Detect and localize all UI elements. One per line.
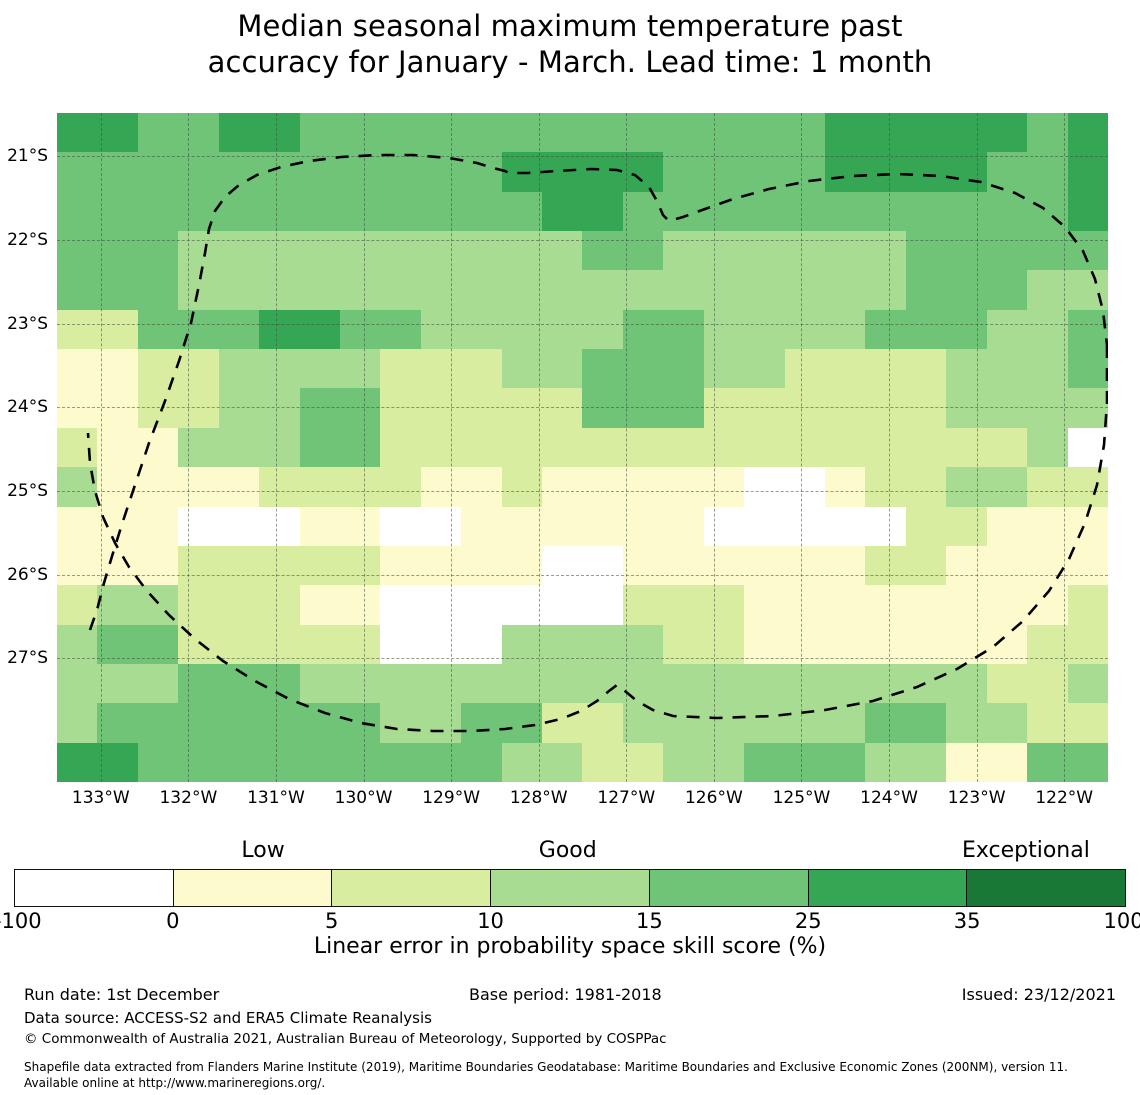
y-axis-tick: 27°S	[0, 648, 48, 668]
heatmap-cell	[259, 231, 299, 270]
heatmap-cell	[582, 467, 622, 506]
heatmap-cell	[1027, 113, 1067, 152]
heatmap-cell	[542, 428, 582, 467]
heatmap-cell	[704, 152, 744, 191]
heatmap-cell	[987, 388, 1027, 427]
heatmap-cell	[987, 743, 1027, 782]
heatmap-cell	[946, 664, 986, 703]
heatmap-cell	[825, 349, 865, 388]
colorbar-segment[interactable]	[491, 870, 650, 906]
heatmap-cell	[623, 703, 663, 742]
heatmap-cell	[259, 192, 299, 231]
heatmap-cell	[623, 743, 663, 782]
colorbar-legend[interactable]: LowGoodExceptional -1000510152535100 Lin…	[14, 838, 1126, 950]
heatmap-cell	[582, 113, 622, 152]
heatmap-cell	[502, 467, 542, 506]
x-axis-tick: 122°W	[1035, 788, 1093, 808]
heatmap-cell	[542, 467, 582, 506]
heatmap-cell	[946, 192, 986, 231]
heatmap-cell	[865, 428, 905, 467]
heatmap-cell	[987, 585, 1027, 624]
heatmap-cell	[704, 349, 744, 388]
heatmap-cell	[340, 703, 380, 742]
x-axis-tick: 123°W	[948, 788, 1006, 808]
heatmap-cell	[865, 467, 905, 506]
heatmap-cell	[178, 349, 218, 388]
colorbar-segment[interactable]	[174, 870, 333, 906]
heatmap-cell	[300, 703, 340, 742]
heatmap-cell	[1027, 192, 1067, 231]
heatmap-cell	[300, 231, 340, 270]
heatmap-cell	[340, 270, 380, 309]
heatmap-cell	[219, 664, 259, 703]
heatmap-cell	[987, 113, 1027, 152]
heatmap-cell	[663, 507, 703, 546]
data-source-label: Data source: ACCESS-S2 and ERA5 Climate …	[24, 1009, 432, 1027]
colorbar-axis-title: Linear error in probability space skill …	[14, 934, 1126, 959]
heatmap-cell	[219, 388, 259, 427]
heatmap-cell	[461, 625, 501, 664]
heatmap-cell	[825, 428, 865, 467]
heatmap-cell	[582, 349, 622, 388]
heatmap-cell	[704, 467, 744, 506]
heatmap-cell	[340, 428, 380, 467]
heatmap-cell	[987, 428, 1027, 467]
heatmap-cell	[461, 310, 501, 349]
heatmap-cell	[300, 428, 340, 467]
heatmap-cell	[865, 152, 905, 191]
heatmap-cell	[340, 664, 380, 703]
heatmap-cell	[502, 703, 542, 742]
heatmap-cell	[461, 152, 501, 191]
heatmap-cell	[744, 113, 784, 152]
heatmap-cell	[1068, 231, 1108, 270]
heatmap-cell	[57, 113, 97, 152]
heatmap-cell	[785, 585, 825, 624]
heatmap-cell	[542, 546, 582, 585]
heatmap-cell	[57, 310, 97, 349]
heatmap-cell	[300, 388, 340, 427]
heatmap-cell	[340, 192, 380, 231]
heatmap-cell	[57, 507, 97, 546]
heatmap-cell	[300, 192, 340, 231]
heatmap-cell	[865, 349, 905, 388]
heatmap-cell	[421, 113, 461, 152]
heatmap-cell	[97, 388, 137, 427]
heatmap-cell-grid	[57, 113, 1108, 782]
heatmap-cell	[865, 388, 905, 427]
heatmap-cell	[744, 546, 784, 585]
heatmap-cell	[421, 743, 461, 782]
heatmap-cell	[502, 231, 542, 270]
heatmap-cell	[1027, 743, 1067, 782]
heatmap-cell	[623, 467, 663, 506]
heatmap-cell	[1068, 270, 1108, 309]
colorbar-segment[interactable]	[650, 870, 809, 906]
heatmap-cell	[57, 467, 97, 506]
heatmap-cell	[1027, 349, 1067, 388]
heatmap-cell	[57, 428, 97, 467]
heatmap-cell	[582, 270, 622, 309]
colorbar-category-label: Exceptional	[962, 838, 1090, 863]
heatmap-cell	[300, 152, 340, 191]
heatmap-cell	[865, 310, 905, 349]
heatmap-cell	[1027, 270, 1067, 309]
heatmap-cell	[987, 310, 1027, 349]
heatmap-cell	[542, 270, 582, 309]
x-axis-tick: 128°W	[510, 788, 568, 808]
heatmap-cell	[623, 625, 663, 664]
heatmap-cell	[542, 625, 582, 664]
heatmap-cell	[785, 625, 825, 664]
heatmap-cell	[461, 507, 501, 546]
x-axis-tick: 127°W	[597, 788, 655, 808]
x-axis-tick: 125°W	[773, 788, 831, 808]
heatmap-cell	[57, 625, 97, 664]
heatmap-cell	[461, 270, 501, 309]
heatmap-cell	[57, 231, 97, 270]
heatmap-cell	[623, 113, 663, 152]
heatmap-cell	[987, 152, 1027, 191]
heatmap-cell	[946, 546, 986, 585]
heatmap-cell	[623, 546, 663, 585]
heatmap-cell	[1068, 113, 1108, 152]
heatmap-cell	[259, 664, 299, 703]
heatmap-cell	[1027, 231, 1067, 270]
heatmap-cell	[825, 310, 865, 349]
heatmap-cell	[865, 664, 905, 703]
heatmap-cell	[380, 231, 420, 270]
heatmap-cell	[744, 152, 784, 191]
heatmap-cell	[1027, 703, 1067, 742]
heatmap-cell	[1068, 310, 1108, 349]
heatmap-cell	[785, 270, 825, 309]
heatmap-cell	[663, 467, 703, 506]
heatmap-cell	[340, 546, 380, 585]
heatmap-cell	[704, 192, 744, 231]
y-axis-tick: 25°S	[0, 481, 48, 501]
heatmap-cell	[946, 113, 986, 152]
heatmap-cell	[663, 310, 703, 349]
heatmap-cell	[219, 349, 259, 388]
heatmap-cell	[300, 113, 340, 152]
heatmap-cell	[582, 310, 622, 349]
heatmap-cell	[987, 467, 1027, 506]
heatmap-cell	[582, 546, 622, 585]
colorbar-segment[interactable]	[15, 870, 174, 906]
heatmap-cell	[97, 585, 137, 624]
heatmap-cell	[97, 743, 137, 782]
heatmap-cell	[421, 585, 461, 624]
heatmap-cell	[906, 152, 946, 191]
heatmap-cell	[380, 270, 420, 309]
heatmap-cell	[502, 743, 542, 782]
heatmap-cell	[744, 625, 784, 664]
heatmap-cell	[340, 310, 380, 349]
heatmap-cell	[946, 585, 986, 624]
colorbar-gradient-bar[interactable]	[14, 869, 1126, 907]
heatmap-cell	[502, 507, 542, 546]
heatmap-cell	[259, 310, 299, 349]
heatmap-cell	[380, 192, 420, 231]
heatmap-cell	[259, 743, 299, 782]
heatmap-cell	[380, 388, 420, 427]
heatmap-cell	[259, 428, 299, 467]
heatmap-cell	[380, 428, 420, 467]
heatmap-cell	[502, 310, 542, 349]
heatmap-cell	[542, 743, 582, 782]
heatmap-cell	[178, 703, 218, 742]
heatmap-cell	[461, 664, 501, 703]
heatmap-cell	[97, 546, 137, 585]
heatmap-cell	[502, 388, 542, 427]
y-axis-tick: 24°S	[0, 397, 48, 417]
heatmap-cell	[259, 270, 299, 309]
heatmap-cell	[138, 703, 178, 742]
heatmap-cell	[946, 428, 986, 467]
map-plot-area[interactable]	[57, 113, 1108, 782]
heatmap-cell	[785, 467, 825, 506]
heatmap-cell	[461, 349, 501, 388]
heatmap-cell	[906, 703, 946, 742]
heatmap-cell	[825, 231, 865, 270]
heatmap-cell	[865, 270, 905, 309]
heatmap-cell	[785, 349, 825, 388]
colorbar-segment[interactable]	[332, 870, 491, 906]
forecast-map-page: Median seasonal maximum temperature past…	[0, 0, 1140, 1095]
heatmap-cell	[178, 467, 218, 506]
heatmap-cell	[987, 664, 1027, 703]
heatmap-cell	[219, 270, 259, 309]
heatmap-cell	[421, 270, 461, 309]
heatmap-cell	[219, 507, 259, 546]
heatmap-canvas[interactable]	[57, 113, 1108, 782]
heatmap-cell	[542, 113, 582, 152]
heatmap-cell	[663, 664, 703, 703]
heatmap-cell	[421, 310, 461, 349]
heatmap-cell	[340, 388, 380, 427]
heatmap-cell	[138, 388, 178, 427]
heatmap-cell	[623, 152, 663, 191]
heatmap-cell	[785, 113, 825, 152]
heatmap-cell	[906, 546, 946, 585]
heatmap-cell	[300, 664, 340, 703]
heatmap-cell	[946, 349, 986, 388]
heatmap-cell	[259, 467, 299, 506]
heatmap-cell	[825, 388, 865, 427]
heatmap-cell	[865, 703, 905, 742]
heatmap-cell	[785, 192, 825, 231]
heatmap-cell	[663, 388, 703, 427]
heatmap-cell	[987, 703, 1027, 742]
heatmap-cell	[219, 113, 259, 152]
heatmap-cell	[704, 231, 744, 270]
heatmap-cell	[623, 231, 663, 270]
heatmap-cell	[946, 625, 986, 664]
heatmap-cell	[380, 507, 420, 546]
heatmap-cell	[1068, 388, 1108, 427]
x-axis-tick: 133°W	[72, 788, 130, 808]
heatmap-cell	[1027, 152, 1067, 191]
heatmap-cell	[744, 428, 784, 467]
heatmap-cell	[1068, 349, 1108, 388]
heatmap-cell	[865, 625, 905, 664]
heatmap-cell	[1068, 664, 1108, 703]
heatmap-cell	[178, 664, 218, 703]
heatmap-cell	[663, 743, 703, 782]
heatmap-cell	[461, 585, 501, 624]
heatmap-cell	[542, 664, 582, 703]
heatmap-cell	[178, 310, 218, 349]
heatmap-cell	[865, 192, 905, 231]
heatmap-cell	[138, 585, 178, 624]
heatmap-cell	[623, 192, 663, 231]
heatmap-cell	[421, 507, 461, 546]
heatmap-cell	[502, 349, 542, 388]
heatmap-cell	[825, 546, 865, 585]
heatmap-cell	[300, 467, 340, 506]
heatmap-cell	[1068, 546, 1108, 585]
heatmap-cell	[987, 349, 1027, 388]
heatmap-cell	[663, 546, 703, 585]
heatmap-cell	[380, 113, 420, 152]
heatmap-cell	[582, 507, 622, 546]
heatmap-cell	[340, 743, 380, 782]
heatmap-cell	[663, 113, 703, 152]
heatmap-cell	[300, 507, 340, 546]
colorbar-segment[interactable]	[967, 870, 1125, 906]
heatmap-cell	[623, 310, 663, 349]
heatmap-cell	[582, 743, 622, 782]
heatmap-cell	[542, 310, 582, 349]
shapefile-attribution: Shapefile data extracted from Flanders M…	[24, 1059, 1122, 1091]
heatmap-cell	[623, 349, 663, 388]
heatmap-cell	[178, 546, 218, 585]
colorbar-segment[interactable]	[809, 870, 968, 906]
heatmap-cell	[502, 664, 542, 703]
heatmap-cell	[865, 585, 905, 624]
colorbar-tick-labels: -1000510152535100	[14, 909, 1126, 935]
heatmap-cell	[623, 585, 663, 624]
heatmap-cell	[259, 585, 299, 624]
heatmap-cell	[623, 270, 663, 309]
heatmap-cell	[987, 192, 1027, 231]
heatmap-cell	[219, 703, 259, 742]
y-axis-tick: 23°S	[0, 314, 48, 334]
heatmap-cell	[300, 625, 340, 664]
heatmap-cell	[421, 192, 461, 231]
heatmap-cell	[542, 585, 582, 624]
heatmap-cell	[744, 585, 784, 624]
heatmap-cell	[946, 270, 986, 309]
heatmap-cell	[1068, 625, 1108, 664]
heatmap-cell	[987, 507, 1027, 546]
heatmap-cell	[219, 625, 259, 664]
heatmap-cell	[987, 270, 1027, 309]
heatmap-cell	[906, 231, 946, 270]
heatmap-cell	[1068, 703, 1108, 742]
heatmap-cell	[97, 664, 137, 703]
heatmap-cell	[57, 664, 97, 703]
footer: Run date: 1st December Base period: 1981…	[0, 985, 1140, 1095]
heatmap-cell	[704, 270, 744, 309]
heatmap-cell	[97, 270, 137, 309]
heatmap-cell	[825, 703, 865, 742]
heatmap-cell	[340, 113, 380, 152]
heatmap-cell	[259, 546, 299, 585]
heatmap-cell	[865, 507, 905, 546]
heatmap-cell	[138, 231, 178, 270]
heatmap-cell	[421, 349, 461, 388]
heatmap-cell	[785, 152, 825, 191]
heatmap-cell	[704, 743, 744, 782]
heatmap-cell	[946, 743, 986, 782]
heatmap-cell	[785, 231, 825, 270]
heatmap-cell	[744, 192, 784, 231]
heatmap-cell	[178, 388, 218, 427]
heatmap-cell	[744, 231, 784, 270]
heatmap-cell	[57, 743, 97, 782]
x-axis-tick: 129°W	[422, 788, 480, 808]
heatmap-cell	[340, 467, 380, 506]
heatmap-cell	[663, 152, 703, 191]
heatmap-cell	[704, 310, 744, 349]
heatmap-cell	[663, 428, 703, 467]
heatmap-cell	[825, 270, 865, 309]
heatmap-cell	[582, 192, 622, 231]
colorbar-tick: 35	[954, 909, 981, 933]
heatmap-cell	[825, 467, 865, 506]
title-line-2: accuracy for January - March. Lead time:…	[0, 44, 1140, 80]
heatmap-cell	[987, 231, 1027, 270]
heatmap-cell	[987, 546, 1027, 585]
x-axis-tick-labels: 133°W132°W131°W130°W129°W128°W127°W126°W…	[0, 788, 1140, 814]
heatmap-cell	[219, 546, 259, 585]
heatmap-cell	[785, 507, 825, 546]
heatmap-cell	[663, 192, 703, 231]
heatmap-cell	[97, 467, 137, 506]
heatmap-cell	[57, 192, 97, 231]
heatmap-cell	[138, 192, 178, 231]
heatmap-cell	[380, 349, 420, 388]
heatmap-cell	[704, 585, 744, 624]
colorbar-category-label: Low	[241, 838, 284, 863]
heatmap-cell	[300, 585, 340, 624]
footer-metadata-row: Run date: 1st December Base period: 1981…	[0, 985, 1140, 1007]
x-axis-tick: 130°W	[335, 788, 393, 808]
heatmap-cell	[97, 625, 137, 664]
heatmap-cell	[219, 428, 259, 467]
heatmap-cell	[623, 388, 663, 427]
run-date-label: Run date: 1st December	[24, 985, 219, 1004]
heatmap-cell	[502, 192, 542, 231]
heatmap-cell	[906, 428, 946, 467]
colorbar-tick: 25	[795, 909, 822, 933]
heatmap-cell	[461, 743, 501, 782]
heatmap-cell	[57, 349, 97, 388]
heatmap-cell	[663, 270, 703, 309]
heatmap-cell	[582, 388, 622, 427]
heatmap-cell	[542, 349, 582, 388]
heatmap-cell	[340, 349, 380, 388]
heatmap-cell	[97, 428, 137, 467]
heatmap-cell	[582, 231, 622, 270]
heatmap-cell	[178, 113, 218, 152]
heatmap-cell	[340, 585, 380, 624]
heatmap-cell	[744, 349, 784, 388]
heatmap-cell	[97, 152, 137, 191]
title-line-1: Median seasonal maximum temperature past	[237, 9, 902, 43]
